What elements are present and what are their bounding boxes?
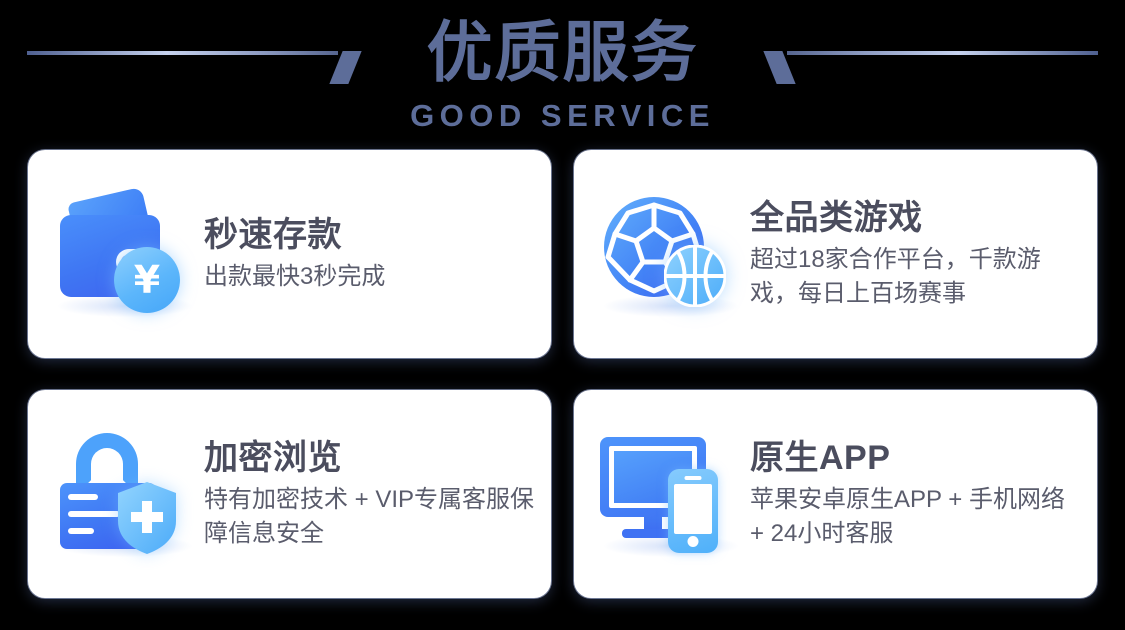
- card-text-block: 原生APP 苹果安卓原生APP + 手机网络 + 24小时客服: [750, 437, 1097, 551]
- soccer-basketball-icon: [596, 189, 754, 319]
- phone-home-button: [688, 536, 699, 547]
- card-description: 特有加密技术 + VIP专属客服保障信息安全: [204, 483, 537, 551]
- page-header: 优质服务 GOOD SERVICE: [0, 0, 1125, 148]
- service-card-native-app[interactable]: 原生APP 苹果安卓原生APP + 手机网络 + 24小时客服: [574, 390, 1097, 598]
- card-title: 加密浏览: [204, 437, 537, 479]
- yen-coin-icon: ¥: [114, 247, 180, 313]
- service-card-deposit[interactable]: ¥ 秒速存款 出款最快3秒完成: [28, 150, 551, 358]
- card-title: 秒速存款: [204, 214, 537, 256]
- card-text-block: 秒速存款 出款最快3秒完成: [204, 214, 551, 294]
- service-card-games[interactable]: 全品类游戏 超过18家合作平台，千款游戏，每日上百场赛事: [574, 150, 1097, 358]
- basketball-icon: [664, 245, 726, 307]
- phone-screen: [674, 484, 712, 534]
- monitor-phone-icon: [596, 429, 754, 559]
- card-title: 全品类游戏: [750, 197, 1083, 239]
- shield-plus-icon: [116, 481, 178, 555]
- header-rule-right: [787, 51, 1098, 55]
- card-description: 出款最快3秒完成: [204, 260, 537, 294]
- service-card-grid: ¥ 秒速存款 出款最快3秒完成: [28, 150, 1097, 598]
- lock-stripe: [68, 511, 120, 517]
- page-subtitle: GOOD SERVICE: [0, 99, 1125, 133]
- card-text-block: 加密浏览 特有加密技术 + VIP专属客服保障信息安全: [204, 437, 551, 551]
- service-card-encryption[interactable]: 加密浏览 特有加密技术 + VIP专属客服保障信息安全: [28, 390, 551, 598]
- card-description: 苹果安卓原生APP + 手机网络 + 24小时客服: [750, 483, 1083, 551]
- phone-speaker: [685, 476, 702, 480]
- lock-shield-icon: [50, 429, 208, 559]
- lock-stripe: [68, 494, 98, 500]
- wallet-yen-icon: ¥: [50, 189, 208, 319]
- yen-symbol: ¥: [134, 261, 160, 299]
- lock-stripe: [68, 528, 94, 534]
- smartphone-icon: [668, 469, 718, 553]
- card-text-block: 全品类游戏 超过18家合作平台，千款游戏，每日上百场赛事: [750, 197, 1097, 311]
- card-description: 超过18家合作平台，千款游戏，每日上百场赛事: [750, 243, 1083, 311]
- card-title: 原生APP: [750, 437, 1083, 479]
